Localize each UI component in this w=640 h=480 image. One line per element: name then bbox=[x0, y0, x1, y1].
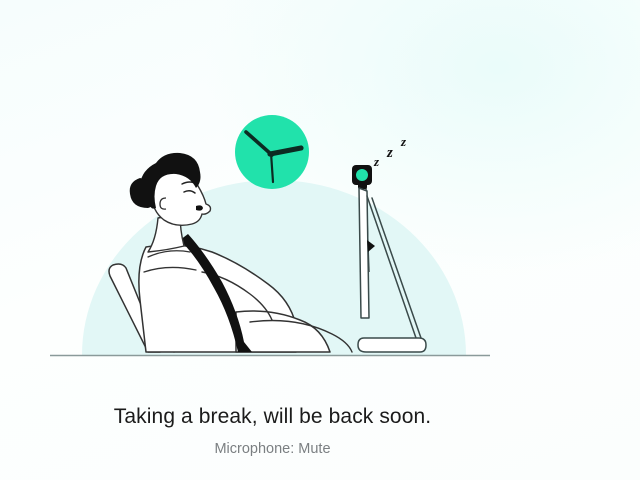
away-status-screen: z z z bbox=[0, 0, 640, 480]
sleep-z-large: z bbox=[400, 134, 407, 149]
person-taking-a-break-illustration: z z z bbox=[0, 0, 640, 400]
caption-block: Taking a break, will be back soon. Micro… bbox=[0, 402, 545, 459]
sleep-zzz: z z z bbox=[373, 134, 407, 169]
monitor-panel bbox=[359, 188, 369, 318]
wall-clock bbox=[235, 115, 309, 189]
status-message: Taking a break, will be back soon. bbox=[0, 402, 545, 432]
sleep-z-medium: z bbox=[386, 145, 393, 161]
microphone-status: Microphone: Mute bbox=[0, 439, 545, 459]
webcam-lens bbox=[356, 169, 368, 181]
sleep-z-small: z bbox=[373, 154, 380, 169]
monitor-base bbox=[358, 338, 426, 352]
